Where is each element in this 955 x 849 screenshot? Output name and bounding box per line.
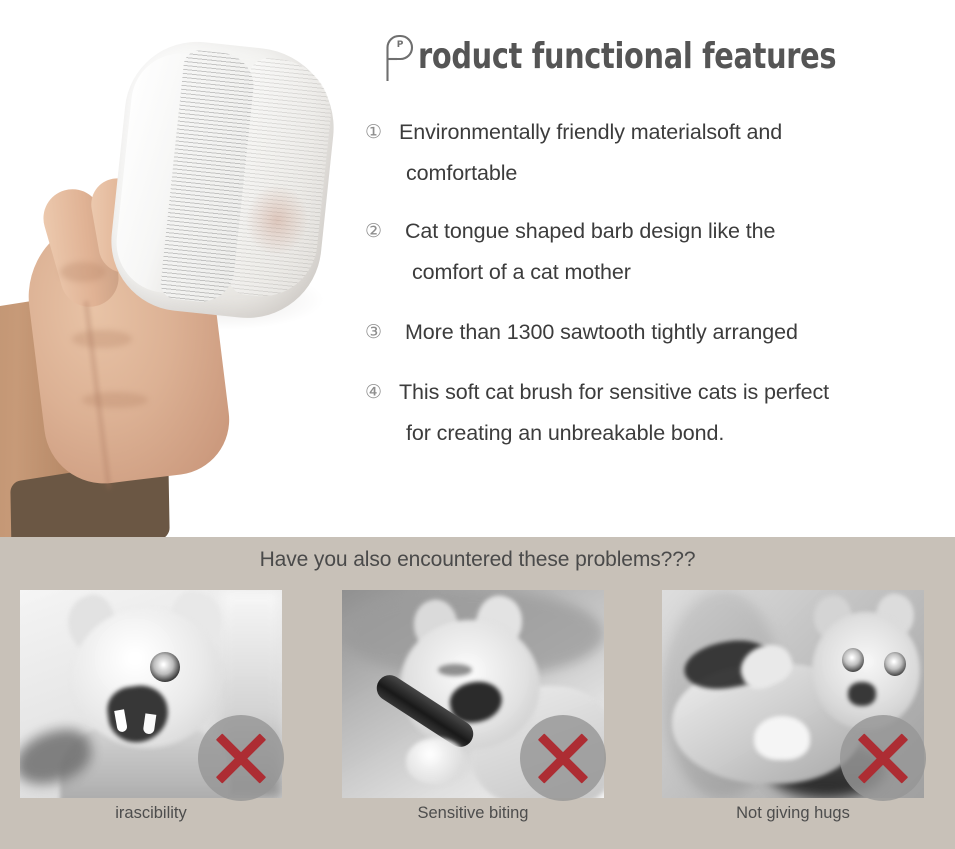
feature-item: ④ This soft cat brush for sensitive cats… [365, 372, 945, 454]
problems-section: Have you also encountered these problems… [0, 537, 955, 849]
cat-paw [754, 716, 810, 760]
knuckle-shading [82, 392, 148, 408]
feature-text-1: Environmentally friendly materialsoft an… [399, 112, 945, 194]
feature-text-2: Cat tongue shaped barb design like the c… [399, 211, 945, 293]
problem-caption-2: Sensitive biting [342, 804, 604, 823]
feature-line-1: More than 1300 sawtooth tightly arranged [405, 320, 798, 344]
decorative-p-icon: P [383, 33, 417, 83]
features-panel: P roduct functional features ① Environme… [355, 0, 955, 537]
product-features-section: P roduct functional features ① Environme… [0, 0, 955, 537]
feature-marker-2: ② [365, 211, 399, 252]
feature-text-4: This soft cat brush for sensitive cats i… [399, 372, 945, 454]
svg-text:P: P [397, 40, 404, 50]
feature-text-3: More than 1300 sawtooth tightly arranged [399, 312, 945, 353]
feature-line-1: This soft cat brush for sensitive cats i… [399, 380, 829, 404]
x-icon [198, 715, 284, 801]
feature-line-2: for creating an unbreakable bond. [399, 413, 945, 454]
problem-card: Sensitive biting [342, 590, 604, 798]
cat-eye [842, 648, 864, 672]
cat-eye [884, 652, 906, 676]
feature-marker-1: ① [365, 112, 399, 153]
feature-line-1: Cat tongue shaped barb design like the [405, 219, 775, 243]
cat-paw [406, 738, 466, 784]
problem-caption-1: irascibility [20, 804, 282, 823]
feature-line-1: Environmentally friendly materialsoft an… [399, 120, 782, 144]
feature-line-2: comfortable [399, 153, 945, 194]
knuckle-shading [72, 330, 132, 348]
product-photo [0, 0, 340, 537]
problem-card: Not giving hugs [662, 590, 924, 798]
page-title-text: roduct functional features [418, 35, 836, 79]
feature-marker-4: ④ [365, 372, 399, 413]
feature-marker-3: ③ [365, 312, 399, 353]
page-title: P roduct functional features [383, 33, 941, 83]
feature-list: ① Environmentally friendly materialsoft … [365, 112, 945, 454]
product-feature-infographic: P roduct functional features ① Environme… [0, 0, 955, 849]
cat-eye [438, 664, 472, 676]
feature-item: ① Environmentally friendly materialsoft … [365, 112, 945, 194]
x-icon [520, 715, 606, 801]
feature-line-2: comfort of a cat mother [405, 252, 945, 293]
problem-card: irascibility [20, 590, 282, 798]
feature-item: ② Cat tongue shaped barb design like the… [365, 211, 945, 293]
knuckle-shading [60, 262, 106, 282]
feature-item: ③ More than 1300 sawtooth tightly arrang… [365, 312, 945, 353]
problems-heading: Have you also encountered these problems… [0, 548, 955, 572]
cat-mouth [848, 682, 876, 706]
cat-eye [150, 652, 180, 682]
problem-caption-3: Not giving hugs [662, 804, 924, 823]
x-icon [840, 715, 926, 801]
problem-photo-row: irascibility Sensitive biting [0, 590, 955, 800]
